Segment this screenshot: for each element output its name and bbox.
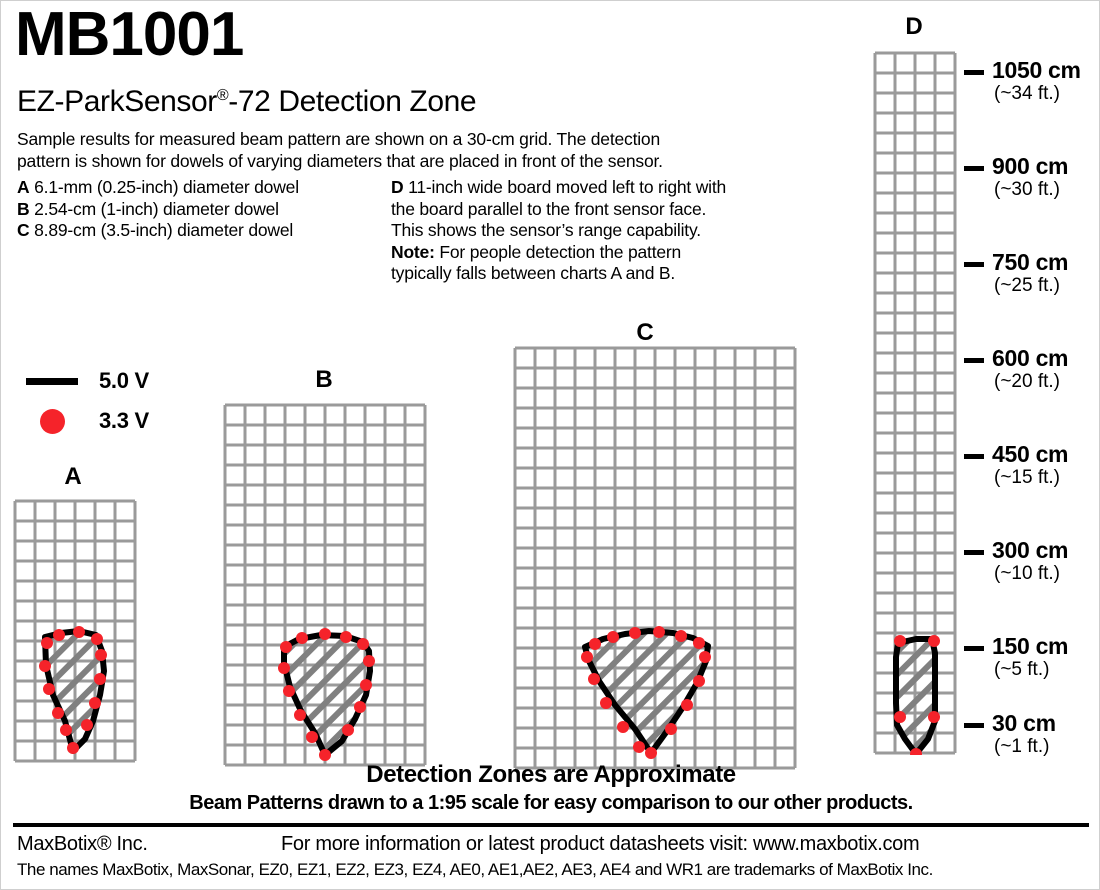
- beam-pattern-c: [585, 631, 708, 753]
- description-right-line-2: This shows the sensor’s range capability…: [391, 220, 821, 242]
- dot-swatch: [23, 409, 81, 434]
- description-left-text-1: 2.54-cm (1-inch) diameter dowel: [34, 199, 279, 219]
- subtitle-product: EZ-ParkSensor: [17, 85, 217, 118]
- legend-item-0: 5.0 V: [23, 361, 203, 401]
- chart-label-c: C: [625, 319, 665, 347]
- description-left-key-2: C: [17, 220, 29, 240]
- subtitle-suffix: -72 Detection Zone: [228, 85, 476, 118]
- caption-scale: Beam Patterns drawn to a 1:95 scale for …: [1, 792, 1100, 815]
- voltage-legend: 5.0 V3.3 V: [23, 361, 203, 441]
- description-intro: Sample results for measured beam pattern…: [17, 129, 827, 172]
- description-left-line-2: C 8.89-cm (3.5-inch) diameter dowel: [17, 220, 397, 242]
- scale-tick-cm-6: 150 cm: [992, 633, 1068, 660]
- description-right-line-3: Note: For people detection the pattern: [391, 242, 821, 264]
- scale-tick-ft-6: (~5 ft.): [994, 659, 1049, 681]
- description-intro-line-1: Sample results for measured beam pattern…: [17, 129, 827, 151]
- chart-label-d: D: [894, 13, 934, 41]
- chart-label-a: A: [53, 463, 93, 491]
- scale-tick-ft-5: (~10 ft.): [994, 563, 1060, 585]
- description-right-text-3: For people detection the pattern: [439, 242, 681, 262]
- page-subtitle: EZ-ParkSensor®-72 Detection Zone: [17, 85, 476, 119]
- line-swatch-mark: [26, 378, 78, 385]
- description-left-key-1: B: [17, 199, 29, 219]
- footer-company-name: MaxBotix® Inc.: [17, 833, 148, 856]
- dot-swatch-mark: [40, 409, 65, 434]
- description-right-text-2: This shows the sensor’s range capability…: [391, 220, 701, 240]
- description-right-line-1: the board parallel to the front sensor f…: [391, 199, 821, 221]
- footer-info-line: For more information or latest product d…: [281, 833, 919, 856]
- scale-tick-ft-7: (~1 ft.): [994, 736, 1049, 758]
- scale-tick-cm-1: 900 cm: [992, 153, 1068, 180]
- description-right-text-0: 11-inch wide board moved left to right w…: [408, 177, 726, 197]
- scale-tick-cm-4: 450 cm: [992, 441, 1068, 468]
- line-swatch: [23, 378, 81, 385]
- page-title: MB1001: [15, 3, 243, 66]
- chart-panel-d: [873, 51, 957, 755]
- description-right-line-4: typically falls between charts A and B.: [391, 263, 821, 285]
- legend-label-1: 3.3 V: [99, 408, 149, 434]
- tick-dash-icon: [964, 550, 984, 555]
- footer-trademark-line: The names MaxBotix, MaxSonar, EZ0, EZ1, …: [17, 860, 933, 880]
- description-intro-line-2: pattern is shown for dowels of varying d…: [17, 151, 827, 173]
- caption-approximate: Detection Zones are Approximate: [1, 761, 1100, 789]
- description-right-line-0: D 11-inch wide board moved left to right…: [391, 177, 821, 199]
- scale-tick-ft-1: (~30 ft.): [994, 179, 1060, 201]
- description-left-text-0: 6.1-mm (0.25-inch) diameter dowel: [34, 177, 299, 197]
- chart-panel-c: [513, 346, 797, 770]
- footer-divider: [13, 823, 1089, 827]
- tick-dash-icon: [964, 262, 984, 267]
- description-right-column: D 11-inch wide board moved left to right…: [391, 177, 821, 285]
- scale-tick-ft-0: (~34 ft.): [994, 83, 1060, 105]
- scale-tick-cm-7: 30 cm: [992, 710, 1056, 737]
- chart-panel-b: [223, 403, 427, 767]
- tick-dash-icon: [964, 358, 984, 363]
- tick-dash-icon: [964, 454, 984, 459]
- chart-label-b: B: [304, 366, 344, 394]
- description-left-text-2: 8.89-cm (3.5-inch) diameter dowel: [34, 220, 293, 240]
- scale-tick-ft-2: (~25 ft.): [994, 275, 1060, 297]
- chart-panel-a: [13, 499, 137, 763]
- scale-tick-cm-3: 600 cm: [992, 345, 1068, 372]
- scale-tick-cm-5: 300 cm: [992, 537, 1068, 564]
- beam-pattern-d: [896, 639, 935, 754]
- scale-tick-ft-3: (~20 ft.): [994, 371, 1060, 393]
- tick-dash-icon: [964, 70, 984, 75]
- description-right-text-1: the board parallel to the front sensor f…: [391, 199, 706, 219]
- scale-tick-cm-0: 1050 cm: [992, 57, 1081, 84]
- description-right-text-4: typically falls between charts A and B.: [391, 263, 675, 283]
- scale-tick-ft-4: (~15 ft.): [994, 467, 1060, 489]
- datasheet-page: MB1001 EZ-ParkSensor®-72 Detection Zone …: [0, 0, 1100, 890]
- legend-label-0: 5.0 V: [99, 368, 149, 394]
- scale-tick-cm-2: 750 cm: [992, 249, 1068, 276]
- description-left-line-0: A 6.1-mm (0.25-inch) diameter dowel: [17, 177, 397, 199]
- description-right-key-3: Note:: [391, 242, 435, 262]
- tick-dash-icon: [964, 723, 984, 728]
- registered-trademark-symbol: ®: [217, 87, 228, 104]
- description-right-key-0: D: [391, 177, 403, 197]
- legend-item-1: 3.3 V: [23, 401, 203, 441]
- description-left-column: A 6.1-mm (0.25-inch) diameter dowelB 2.5…: [17, 177, 397, 242]
- description-left-line-1: B 2.54-cm (1-inch) diameter dowel: [17, 199, 397, 221]
- beam-pattern-b: [284, 635, 370, 755]
- tick-dash-icon: [964, 646, 984, 651]
- tick-dash-icon: [964, 166, 984, 171]
- description-left-key-0: A: [17, 177, 29, 197]
